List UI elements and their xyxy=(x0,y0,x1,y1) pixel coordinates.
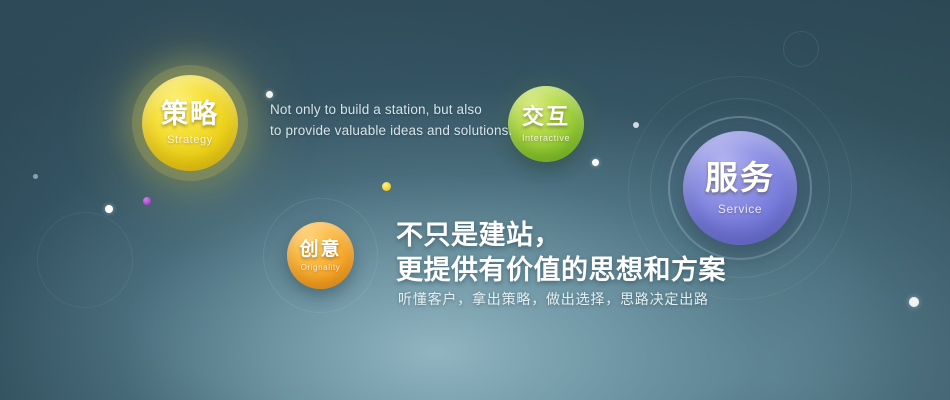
intro-english-line-1: Not only to build a station, but also xyxy=(270,100,510,121)
particle-purple-dot xyxy=(143,197,151,205)
headline: 不只是建站， 更提供有价值的思想和方案 xyxy=(396,218,726,288)
sphere-strategy[interactable]: 策略 Strategy xyxy=(142,75,238,171)
particle-white-dot-low xyxy=(909,297,919,307)
particle-white-dot-far xyxy=(633,122,639,128)
sphere-strategy-en-label: Strategy xyxy=(167,135,213,146)
intro-english-text: Not only to build a station, but also to… xyxy=(270,100,510,141)
sphere-interactive-cn-label: 交互 xyxy=(522,106,570,128)
sphere-interactive-en-label: Interactive xyxy=(522,134,570,143)
subtitle: 听懂客户，拿出策略，做出选择，思路决定出路 xyxy=(398,289,709,309)
sphere-strategy-cn-label: 策略 xyxy=(161,101,219,128)
sphere-interactive[interactable]: 交互 Interactive xyxy=(508,86,584,162)
headline-line-2: 更提供有价值的思想和方案 xyxy=(396,253,726,288)
ring-left-faint xyxy=(37,212,133,308)
particle-white-dot-mid xyxy=(105,205,113,213)
sphere-service-en-label: Service xyxy=(718,203,762,215)
sphere-originality-cn-label: 创意 xyxy=(299,240,341,259)
sphere-originality[interactable]: 创意 Orignality xyxy=(287,222,354,289)
sphere-originality-en-label: Orignality xyxy=(301,264,341,272)
particle-gray-dot-left xyxy=(33,174,38,179)
intro-english-line-2: to provide valuable ideas and solutions. xyxy=(270,121,510,142)
headline-line-1: 不只是建站， xyxy=(396,218,726,253)
sphere-service-cn-label: 服务 xyxy=(705,161,775,194)
ring-top-right xyxy=(783,31,819,67)
vignette-overlay xyxy=(0,0,950,400)
hero-banner: 策略 Strategy 交互 Interactive 创意 Orignality… xyxy=(0,0,950,400)
particle-white-dot-right xyxy=(592,159,599,166)
particle-white-dot-upper xyxy=(266,91,273,98)
particle-yellow-dot xyxy=(382,182,391,191)
